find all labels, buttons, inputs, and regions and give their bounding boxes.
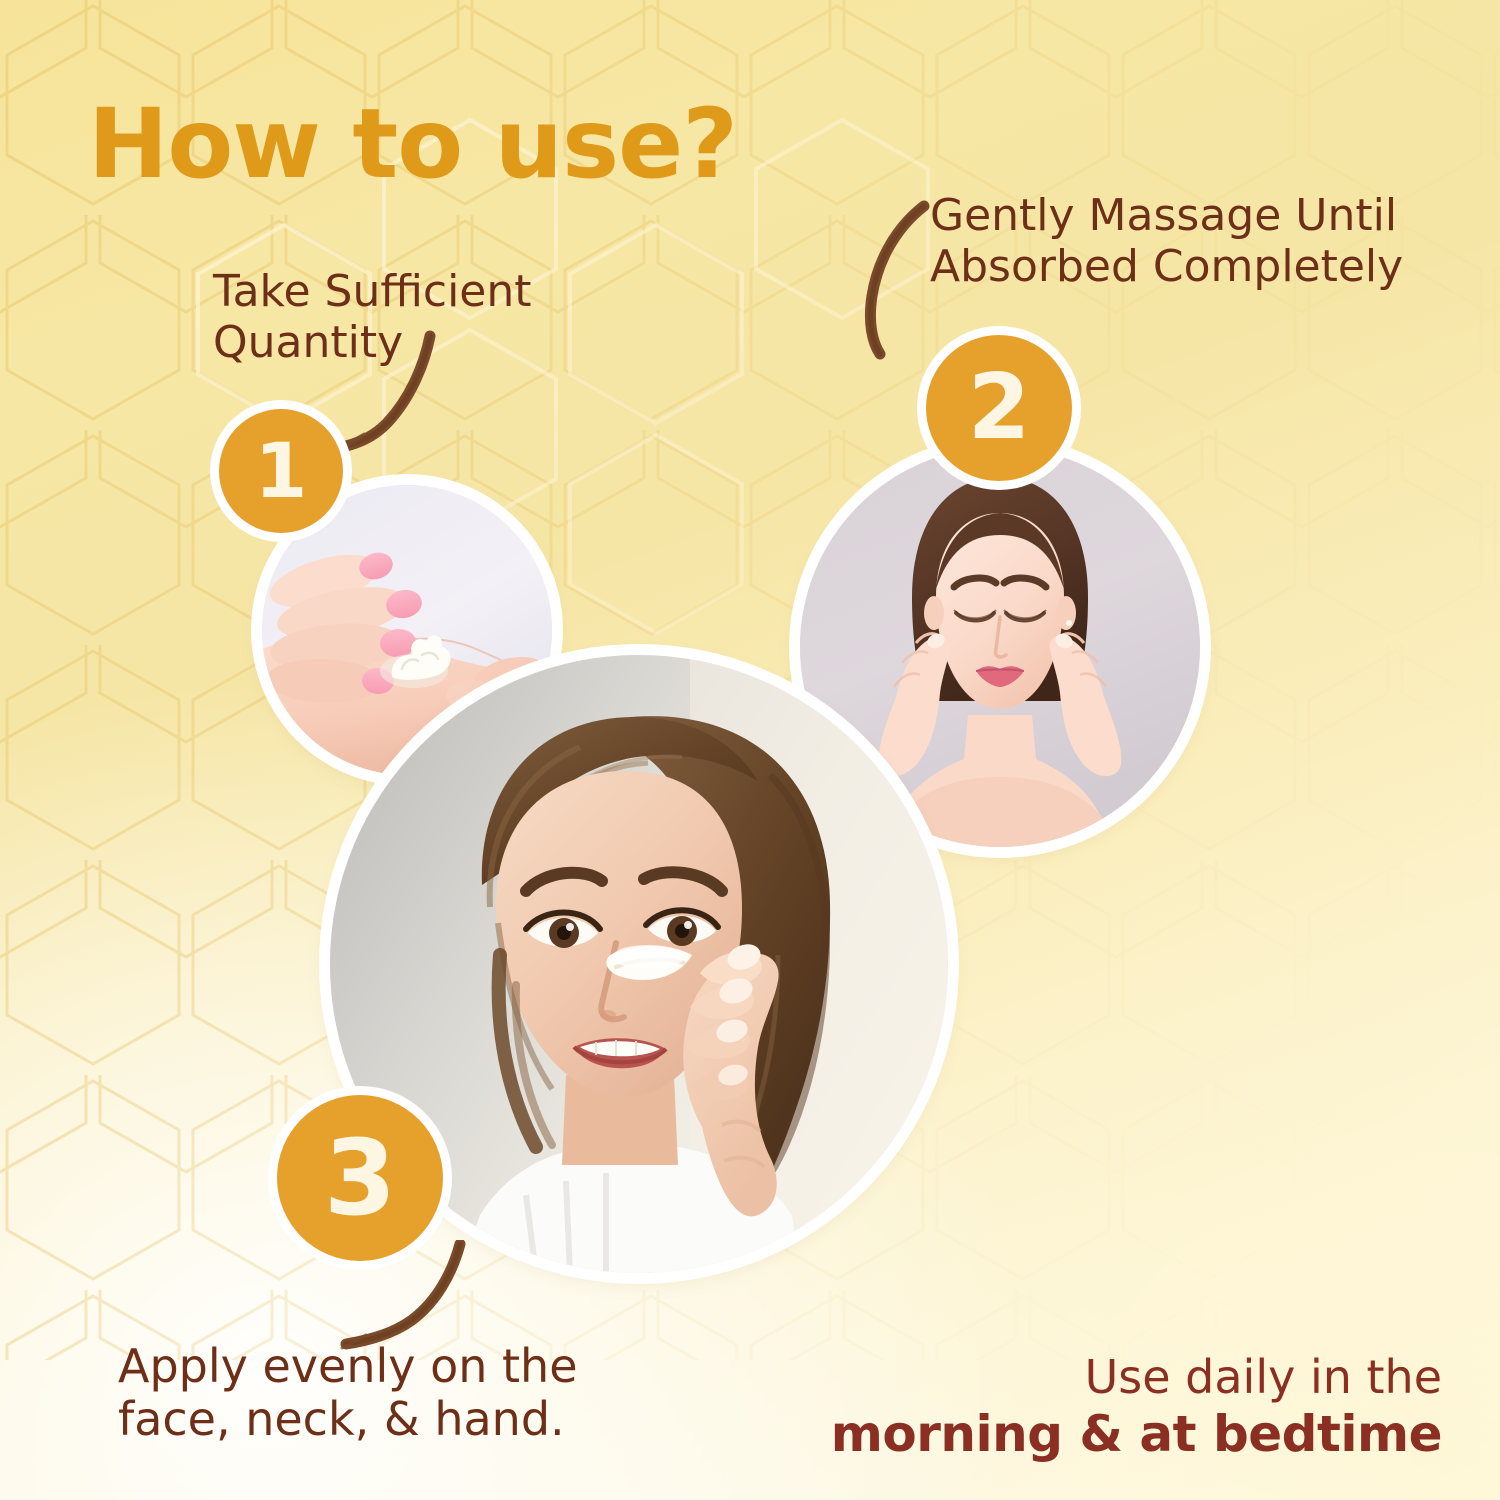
step-1-number: 1 [255, 433, 308, 509]
footer-line-2: morning & at bedtime [831, 1405, 1442, 1463]
step-2-caption: Gently Massage Until Absorbed Completely [930, 190, 1403, 292]
step-3-caption: Apply evenly on the face, neck, & hand. [118, 1340, 578, 1447]
step-3-badge: 3 [277, 1095, 443, 1261]
page-title: How to use? [88, 96, 737, 192]
infographic-canvas: How to use? Take Sufficient Quantity Gen… [0, 0, 1500, 1500]
step-1-badge: 1 [219, 409, 343, 533]
footer-note: Use daily in the morning & at bedtime [831, 1298, 1442, 1500]
step-2-number: 2 [968, 363, 1031, 453]
step-2-badge: 2 [926, 335, 1072, 481]
footer-line-1: Use daily in the [1085, 1350, 1442, 1404]
step-1-caption: Take Sufficient Quantity [213, 266, 532, 368]
step-3-number: 3 [324, 1126, 396, 1230]
